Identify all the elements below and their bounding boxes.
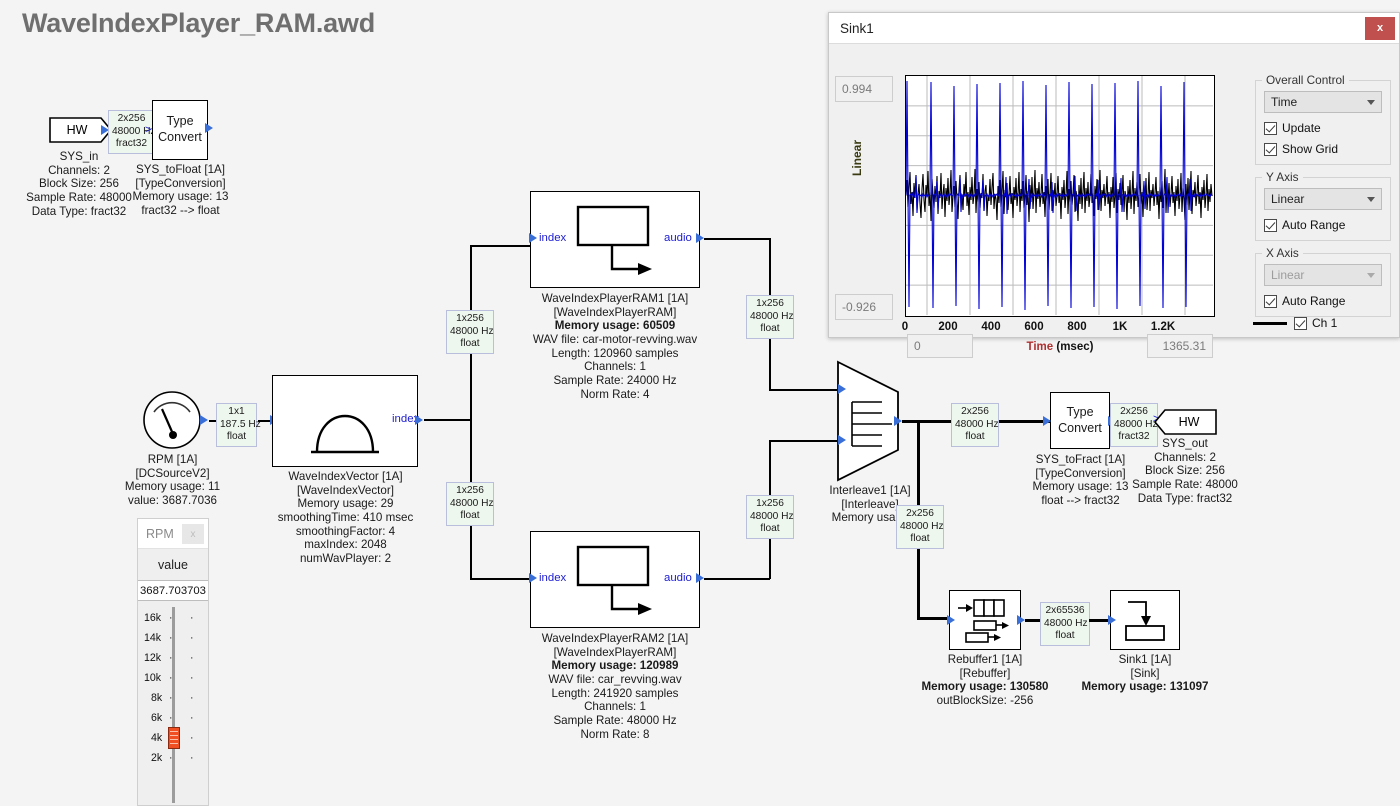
caption-player1: WaveIndexPlayerRAM1 [1A] [WaveIndexPlaye… [510,292,720,401]
caption-line: Memory usage: 13 [113,190,248,204]
player1-input-port-icon [529,233,537,243]
block-label-line: Type [1058,405,1102,421]
signal-label-player2-out: 1x256 48000 Hz float [746,495,794,539]
signal-label-line: 1x256 [750,498,790,511]
caption-line: Memory usage: 11 [110,480,235,494]
x-axis-scale-value: Linear [1271,268,1304,282]
signal-label-line: 48000 Hz [450,326,490,339]
rpm-tick-dot: · [169,632,173,644]
caption-line: [WaveIndexVector] [258,484,433,498]
x-tick-label: 1.2K [1151,321,1175,333]
update-checkbox-label: Update [1282,121,1321,135]
interleave1-input-port-1-icon [838,384,846,394]
caption-line: smoothingTime: 410 msec [258,511,433,525]
caption-line: outBlockSize: -256 [890,694,1080,708]
player1-output-port-label: audio [664,232,692,244]
wire-rebuffer-out [1025,619,1041,622]
block-sys-tofract[interactable]: Type Convert [1050,392,1110,449]
rpm-tick-label: 2k [151,752,162,764]
checkbox-icon [1294,317,1307,330]
page-title: WaveIndexPlayer_RAM.awd [22,8,375,39]
block-label-line: Convert [158,130,202,146]
signal-label-line: 1x1 [220,406,253,419]
signal-label-line: 1x256 [450,485,490,498]
signal-label-interleave-out: 2x256 48000 Hz float [951,403,999,447]
rpm-slider[interactable]: 16k · · 14k · · 12k · · 10k · · 8k · · 6… [138,601,208,805]
y-axis-legend: Y Axis [1262,170,1303,184]
caption-line: Sample Rate: 48000 [1110,478,1260,492]
signal-label-vector-to-player2: 1x256 48000 Hz float [446,482,494,526]
rpm-control-panel[interactable]: RPM x value 3687.703703 16k · · 14k · · … [137,518,209,806]
block-sys-out-label: HW [1161,409,1217,435]
wire-player2-to-interleave [769,440,837,442]
rebuffer1-input-port-icon [947,615,955,625]
caption-line: Sample Rate: 48000 Hz [510,714,720,728]
signal-label-line: float [955,431,995,444]
x-tick-label: 200 [938,321,957,333]
signal-label-rebuffer-out: 2x65536 48000 Hz float [1040,602,1090,646]
caption-sys-tofloat: SYS_toFloat [1A] [TypeConversion] Memory… [113,163,248,218]
x-tick-label: 800 [1067,321,1086,333]
rpm-tick-label: 16k [144,612,161,624]
rpm-tick-dot: · [169,692,173,704]
signal-label-line: 2x256 [1114,406,1154,419]
overall-control-mode-value: Time [1271,95,1297,109]
block-sys-out[interactable]: HW [1153,409,1217,435]
caption-line: Block Size: 256 [1110,464,1260,478]
caption-line: Norm Rate: 4 [510,388,720,402]
overall-control-mode-select[interactable]: Time [1264,91,1382,113]
block-sink1[interactable] [1110,590,1180,650]
block-label-line: Type [158,114,202,130]
rpm-tick-dot: · [190,732,194,744]
wire-vector-to-player1 [470,245,532,247]
caption-rebuffer1: Rebuffer1 [1A] [Rebuffer] Memory usage: … [890,653,1080,708]
rpm-tick-dot: · [190,652,194,664]
signal-label-line: 2x256 [900,508,940,521]
caption-sink1: Sink1 [1A] [Sink] Memory usage: 131097 [1075,653,1215,694]
channel-legend-row[interactable]: Ch 1 [1253,316,1337,330]
block-rpm-gauge[interactable] [142,390,202,450]
update-checkbox[interactable]: Update [1264,121,1382,135]
caption-line: Memory usage: 29 [258,497,433,511]
rpm-panel-title-text: RPM [146,527,174,541]
x-tick-label: 400 [981,321,1000,333]
caption-line: WaveIndexPlayerRAM1 [1A] [510,292,720,306]
caption-line: Sample Rate: 24000 Hz [510,374,720,388]
caption-line: RPM [1A] [110,453,235,467]
caption-line: [WaveIndexPlayerRAM] [510,306,720,320]
caption-line: [Sink] [1075,667,1215,681]
caption-line: value: 3687.7036 [110,494,235,508]
rpm-tick-dot: · [190,752,194,764]
rpm-tick-label: 14k [144,632,161,644]
caption-line: SYS_toFloat [1A] [113,163,248,177]
rpm-value-field[interactable]: 3687.703703 [138,581,208,601]
x-tick-label: 600 [1024,321,1043,333]
rebuffer1-output-port-icon [1017,615,1025,625]
rpm-tick-dot: · [190,672,194,684]
x-axis-title: Time (msec) [1027,341,1094,353]
rpm-value-header: value [138,549,208,581]
overall-control-legend: Overall Control [1262,73,1349,87]
caption-line: smoothingFactor: 4 [258,525,433,539]
sink1-window-title: Sink1 [829,21,874,36]
y-axis-group: Y Axis Linear Auto Range [1255,177,1391,241]
caption-line-memory: Memory usage: 131097 [1075,680,1215,694]
caption-line: WAV file: car_revving.wav [510,673,720,687]
rpm-tick-label: 8k [151,692,162,704]
rpm-tick-dot: · [190,612,194,624]
waveform-plot[interactable] [905,75,1215,317]
caption-line: [WaveIndexPlayerRAM] [510,646,720,660]
block-label-line: Convert [1058,421,1102,437]
interleave1-output-port-icon [894,416,902,426]
rpm-tick-dot: · [169,752,173,764]
chevron-down-icon [1367,273,1375,278]
signal-label-line: float [1044,630,1086,643]
caption-line: Norm Rate: 8 [510,728,720,742]
close-icon[interactable]: x [182,524,204,544]
caption-line: SYS_out [1110,437,1260,451]
rpm-output-port-icon [200,415,208,425]
sink1-titlebar[interactable]: Sink1 x [829,13,1399,44]
caption-line: [TypeConversion] [113,177,248,191]
rpm-tick-label: 4k [151,732,162,744]
caption-line: maxIndex: 2048 [258,538,433,552]
caption-sys-out: SYS_out Channels: 2 Block Size: 256 Samp… [1110,437,1260,505]
checkbox-icon [1264,219,1277,232]
checkbox-icon [1264,295,1277,308]
y-min-value-box[interactable]: -0.926 [835,294,893,320]
signal-label-line: 48000 Hz [1114,419,1154,432]
caption-line-memory: Memory usage: 130580 [890,680,1080,694]
caption-line: Channels: 1 [510,700,720,714]
signal-label-line: 48000 Hz [750,511,790,524]
y-axis-auto-range-label: Auto Range [1282,218,1345,232]
signal-label-line: 187.5 Hz [220,419,253,432]
signal-label-line: float [220,431,253,444]
wire-player1-to-interleave [769,389,837,391]
wire-player1-out [704,238,770,240]
x-tick-label: 0 [902,321,908,333]
sink1-input-port-icon [1108,615,1116,625]
x-max-value-box[interactable]: 1365.31 [1147,334,1213,358]
caption-line: WaveIndexPlayerRAM2 [1A] [510,632,720,646]
player2-input-port-icon [529,573,537,583]
caption-line: Data Type: fract32 [1110,492,1260,506]
caption-line: [Rebuffer] [890,667,1080,681]
rpm-tick-label: 6k [151,712,162,724]
player2-output-port-icon [696,573,704,583]
rpm-slider-thumb[interactable] [168,727,180,749]
signal-label-line: float [750,323,790,336]
rpm-panel-titlebar: RPM x [138,519,208,549]
caption-line: WaveIndexVector [1A] [258,470,433,484]
caption-line: Channels: 2 [1110,451,1260,465]
caption-line: [DCSourceV2] [110,467,235,481]
x-axis-group: X Axis Linear Auto Range [1255,253,1391,317]
caption-rpm: RPM [1A] [DCSourceV2] Memory usage: 11 v… [110,453,235,508]
signal-label-line: 48000 Hz [900,521,940,534]
overall-control-group: Overall Control Time Update Show Grid [1255,80,1391,165]
caption-line: fract32 --> float [113,204,248,218]
signal-label-line: float [750,523,790,536]
wire-vector-to-player2 [470,578,532,580]
caption-line: Sink1 [1A] [1075,653,1215,667]
caption-line: Length: 120960 samples [510,347,720,361]
x-axis-scale-select: Linear [1264,264,1382,286]
caption-line: Rebuffer1 [1A] [890,653,1080,667]
checkbox-icon [1264,122,1277,135]
block-rebuffer1[interactable] [949,590,1021,650]
close-icon[interactable]: x [1365,17,1395,40]
rpm-tick-dot: · [190,632,194,644]
rpm-tick-dot: · [169,712,173,724]
block-sys-in-label: HW [49,117,105,143]
signal-label-line: 1x256 [450,313,490,326]
caption-line-memory: Memory usage: 120989 [510,659,720,673]
sys-tofloat-input-port-icon: > [145,124,151,136]
sink1-window-body: 0.994 -0.926 Linear [829,44,1399,338]
checkbox-icon [1264,143,1277,156]
x-axis-auto-range-label: Auto Range [1282,294,1345,308]
channel-label: Ch 1 [1312,316,1337,330]
signal-label-vector-to-player1: 1x256 48000 Hz float [446,310,494,354]
x-axis-legend: X Axis [1262,246,1303,260]
rpm-tick-dot: · [190,692,194,704]
rpm-tick-label: 10k [144,672,161,684]
wire-vector-out [424,419,471,421]
waveindexvector-output-port-icon [415,415,423,425]
player2-input-port-label: index [539,572,566,584]
wire-rebuffer-to-sink [1089,619,1110,622]
caption-line: Interleave1 [1A] [810,484,930,498]
player2-output-port-label: audio [664,572,692,584]
block-sys-tofloat[interactable]: Type Convert [152,100,208,160]
signal-label-line: 2x65536 [1044,605,1086,618]
x-min-value-box[interactable]: 0 [907,334,973,358]
signal-label-line: 48000 Hz [750,311,790,324]
caption-line-memory: Memory usage: 60509 [510,319,720,333]
show-grid-checkbox[interactable]: Show Grid [1264,142,1382,156]
show-grid-checkbox-label: Show Grid [1282,142,1338,156]
sys-tofract-input-port-icon [1043,416,1051,426]
wire-interleave-out [902,420,952,423]
caption-line: Length: 241920 samples [510,687,720,701]
rpm-tick-dot: · [169,612,173,624]
channel-color-swatch [1253,322,1287,325]
player1-input-port-label: index [539,232,566,244]
signal-label-line: 48000 Hz [955,419,995,432]
signal-label-line: 48000 Hz [1044,618,1086,631]
rpm-tick-dot: · [190,712,194,724]
y-axis-auto-range-checkbox[interactable]: Auto Range [1264,218,1382,232]
signal-label-line: 2x256 [955,406,995,419]
x-axis-title-unit: (msec) [1053,341,1093,353]
caption-waveindexvector: WaveIndexVector [1A] [WaveIndexVector] M… [258,470,433,566]
signal-label-player1-out: 1x256 48000 Hz float [746,295,794,339]
chevron-down-icon [1367,100,1375,105]
y-axis-scale-select[interactable]: Linear [1264,188,1382,210]
signal-label-line: 48000 Hz [450,498,490,511]
y-axis-scale-label: Linear [850,140,864,176]
caption-player2: WaveIndexPlayerRAM2 [1A] [WaveIndexPlaye… [510,632,720,741]
x-tick-label: 1K [1113,321,1128,333]
rpm-tick-dot: · [169,672,173,684]
signal-label-line: float [450,338,490,351]
sink1-window[interactable]: Sink1 x 0.994 -0.926 Linear [828,12,1400,338]
wire-branch-to-rebuffer [917,617,949,620]
wire-player2-out [704,578,770,580]
channel-checkbox[interactable]: Ch 1 [1294,316,1337,330]
player1-output-port-icon [696,233,704,243]
x-axis-title-time: Time [1027,341,1054,353]
caption-line: numWavPlayer: 2 [258,552,433,566]
signal-label-line: fract32 [112,138,151,151]
signal-label-line: float [900,533,940,546]
signal-label-line: float [450,510,490,523]
caption-line: Channels: 1 [510,360,720,374]
rpm-tick-label: 12k [144,652,161,664]
sink1-control-panel: Overall Control Time Update Show Grid Y … [1253,80,1393,317]
signal-label-line: 1x256 [750,298,790,311]
chevron-down-icon [1367,197,1375,202]
x-axis-auto-range-checkbox[interactable]: Auto Range [1264,294,1382,308]
interleave1-input-port-2-icon [838,435,846,445]
caption-line: WAV file: car-motor-revving.wav [510,333,720,347]
waveform-svg [906,76,1213,315]
signal-label-rpm-out: 1x1 187.5 Hz float [216,403,257,447]
rpm-tick-dot: · [169,652,173,664]
signal-label-interleave-branch: 2x256 48000 Hz float [896,505,944,549]
y-max-value-box[interactable]: 0.994 [835,76,893,102]
sys-tofloat-output-port-icon [205,123,213,133]
y-axis-scale-value: Linear [1271,192,1304,206]
